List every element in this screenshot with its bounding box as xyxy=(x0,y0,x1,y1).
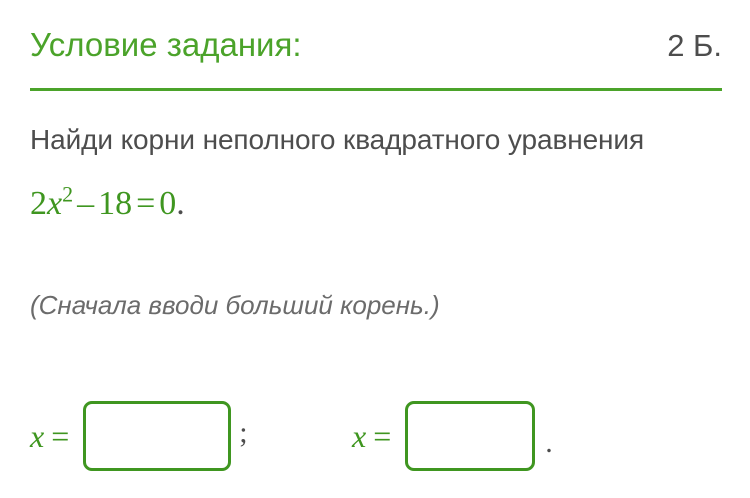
task-card: Условие задания: 2 Б. Найди корни неполн… xyxy=(0,0,750,498)
hint-text: (Сначала вводи больший корень.) xyxy=(30,288,440,322)
question-text: Найди корни неполного квадратного уравне… xyxy=(30,122,750,158)
equation-exponent: 2 xyxy=(62,182,73,207)
answer-separator: ; xyxy=(239,398,247,468)
answer-group-first: x= ; xyxy=(30,398,248,474)
equation: 2x2–18=0. xyxy=(30,182,185,226)
equation-operator: – xyxy=(73,185,98,222)
equation-constant: 18 xyxy=(98,185,132,222)
equation-rhs: 0 xyxy=(159,185,176,222)
answer-row: x= ; x= . xyxy=(30,398,730,474)
answer-terminator: . xyxy=(545,412,553,460)
answer-input-second[interactable] xyxy=(405,401,535,471)
answer-label-second-equals: = xyxy=(373,418,391,454)
answer-label-first: x= xyxy=(30,418,69,455)
answer-input-first[interactable] xyxy=(83,401,231,471)
page-title: Условие задания: xyxy=(30,26,302,64)
task-header: Условие задания: 2 Б. xyxy=(30,26,722,74)
equation-period: . xyxy=(176,185,185,222)
equation-variable: x xyxy=(47,185,62,222)
equation-coefficient: 2 xyxy=(30,185,47,222)
points-badge: 2 Б. xyxy=(667,27,722,65)
answer-group-second: x= . xyxy=(352,398,553,474)
answer-label-second-variable: x xyxy=(352,418,373,454)
answer-label-first-equals: = xyxy=(51,418,69,454)
answer-label-second: x= xyxy=(352,418,391,455)
equation-equals: = xyxy=(132,185,159,222)
answer-label-first-variable: x xyxy=(30,418,51,454)
header-divider xyxy=(30,88,722,91)
